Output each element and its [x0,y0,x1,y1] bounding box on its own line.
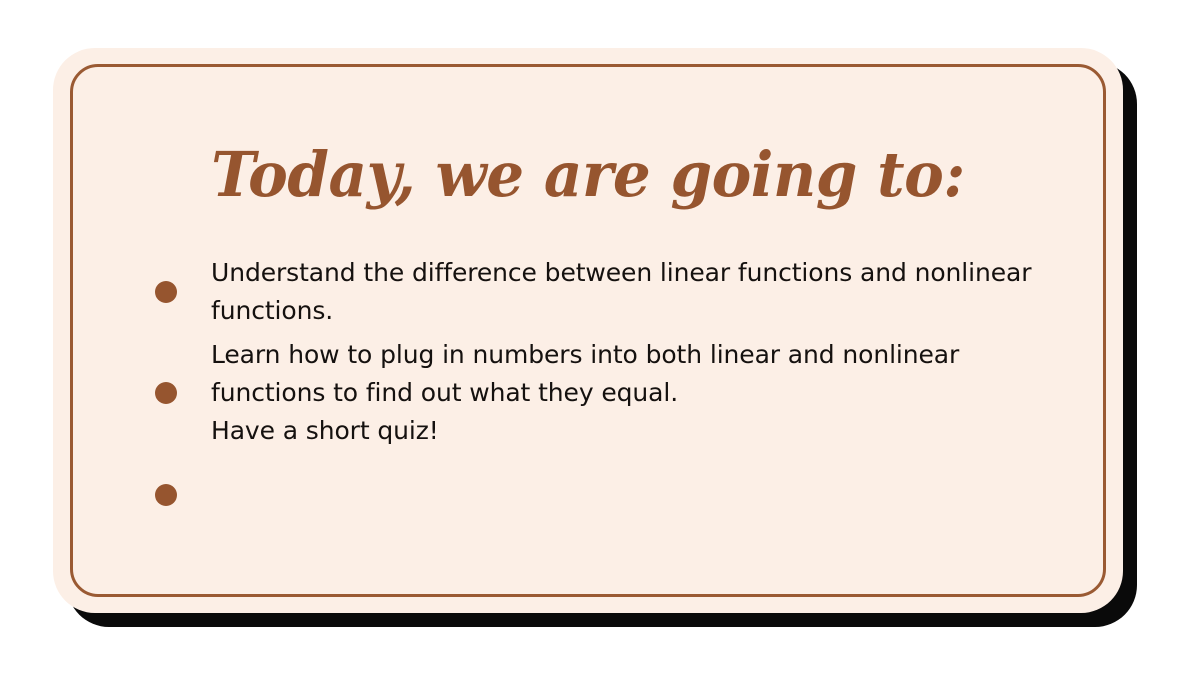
bullet-marker-cell [149,281,211,303]
bullet-list: Understand the difference between linear… [149,254,1079,514]
page-title: Today, we are going to: [74,142,1101,207]
bullet-dot-icon [155,382,177,404]
bullet-dot-icon [155,281,177,303]
list-item: Learn how to plug in numbers into both l… [149,336,1079,450]
list-item-text: Learn how to plug in numbers into both l… [211,336,1079,450]
bullet-marker-cell [149,484,211,506]
slide-canvas: Today, we are going to: Understand the d… [0,0,1200,675]
bullet-marker-cell [149,382,211,404]
card-content: Today, we are going to: Understand the d… [53,48,1123,613]
list-item-text [211,476,1079,514]
content-card: Today, we are going to: Understand the d… [53,48,1123,613]
list-item: Understand the difference between linear… [149,254,1079,330]
list-item-text: Understand the difference between linear… [211,254,1079,330]
list-item [149,476,1079,514]
bullet-dot-icon [155,484,177,506]
